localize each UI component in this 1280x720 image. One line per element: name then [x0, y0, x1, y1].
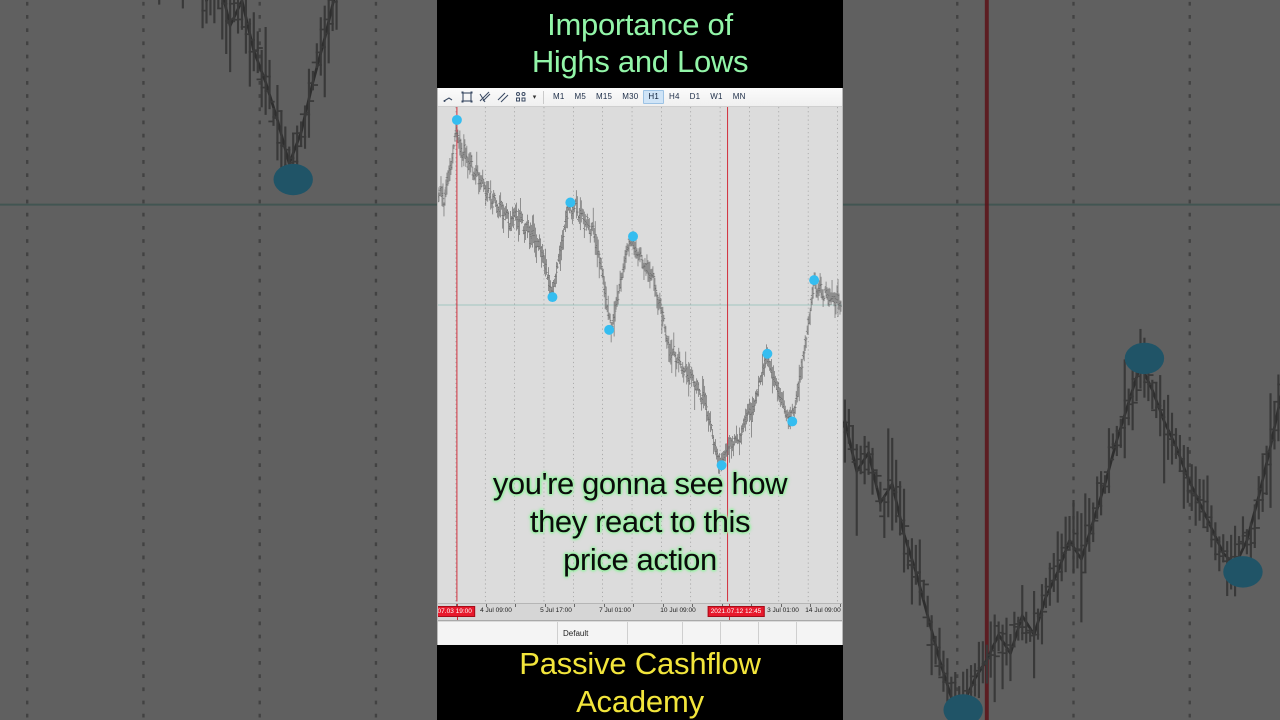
time-axis-label: 10 Jul 09:00 — [660, 607, 695, 614]
timeframe-button-group: M1M5M15M30H1H4D1W1MN — [548, 90, 751, 104]
marker-low — [787, 416, 797, 426]
time-axis-label: 5 Jul 17:00 — [540, 607, 572, 614]
marker-high — [1125, 343, 1164, 374]
marker-low — [717, 460, 727, 470]
timeframe-button-m5[interactable]: M5 — [570, 90, 592, 104]
metatrader-window: ▾ M1M5M15M30H1H4D1W1MN 4 — [437, 88, 843, 645]
brand-line-1: Passive Cashflow — [519, 645, 760, 682]
reel-column: Importance of Highs and Lows — [437, 0, 843, 720]
marker-high — [565, 198, 575, 208]
marker-high — [452, 115, 462, 125]
profile-tab-default[interactable]: Default — [558, 622, 628, 644]
timeframe-button-m15[interactable]: M15 — [591, 90, 617, 104]
status-cell-left — [438, 622, 558, 644]
brand-line-2: Academy — [576, 683, 704, 720]
drawing-tools-group: ▾ — [440, 89, 539, 106]
timeframe-button-mn[interactable]: MN — [728, 90, 751, 104]
timeframe-button-h1[interactable]: H1 — [643, 90, 664, 104]
timeframe-button-h4[interactable]: H4 — [664, 90, 685, 104]
objects-grid-icon[interactable] — [512, 89, 529, 106]
title-line-2: Highs and Lows — [532, 44, 748, 81]
timeframe-button-d1[interactable]: D1 — [685, 90, 706, 104]
status-cell-3 — [628, 622, 683, 644]
time-axis-tick — [633, 604, 634, 607]
screenshot-root: Importance of Highs and Lows — [0, 0, 1280, 720]
marker-low — [547, 292, 557, 302]
status-cell-4 — [683, 622, 721, 644]
status-cell-5 — [721, 622, 759, 644]
time-axis-label: 4 Jul 09:00 — [480, 607, 512, 614]
price-chart[interactable] — [438, 107, 842, 604]
time-axis-highlight-label: 2.07.03 19:00 — [438, 606, 475, 617]
status-cell-7 — [797, 622, 842, 644]
price-chart-svg — [438, 107, 842, 602]
chart-time-axis: 4 Jul 09:005 Jul 17:007 Jul 01:0010 Jul … — [438, 604, 842, 621]
time-axis-label: 7 Jul 01:00 — [599, 607, 631, 614]
timeframe-button-w1[interactable]: W1 — [705, 90, 727, 104]
marker-high — [762, 349, 772, 359]
cut-lines-icon[interactable] — [476, 89, 493, 106]
marker-low — [273, 164, 312, 195]
toolbar-separator — [543, 91, 544, 104]
time-axis-tick — [574, 604, 575, 607]
marker-low — [1223, 556, 1262, 587]
chevron-down-icon[interactable]: ▾ — [530, 89, 539, 106]
title-line-1: Importance of — [547, 7, 733, 44]
marker-high — [628, 231, 638, 241]
status-cell-6 — [759, 622, 797, 644]
time-axis-label: 14 Jul 09:00 — [805, 607, 840, 614]
time-axis-tick — [515, 604, 516, 607]
timeframe-button-m1[interactable]: M1 — [548, 90, 570, 104]
timeframe-button-m30[interactable]: M30 — [617, 90, 643, 104]
parallel-lines-icon[interactable] — [494, 89, 511, 106]
cursor-icon[interactable] — [440, 89, 457, 106]
marker-high — [809, 275, 819, 285]
chart-status-bar: Default — [438, 621, 842, 644]
crosshair-rect-icon[interactable] — [458, 89, 475, 106]
time-axis-highlight-label: 2021.07.12 12:45 — [708, 606, 765, 617]
title-card: Importance of Highs and Lows — [437, 0, 843, 88]
chart-toolbar: ▾ M1M5M15M30H1H4D1W1MN — [438, 88, 842, 107]
marker-low — [604, 325, 614, 335]
brand-footer: Passive Cashflow Academy — [437, 645, 843, 720]
time-axis-label: 3 Jul 01:00 — [767, 607, 799, 614]
